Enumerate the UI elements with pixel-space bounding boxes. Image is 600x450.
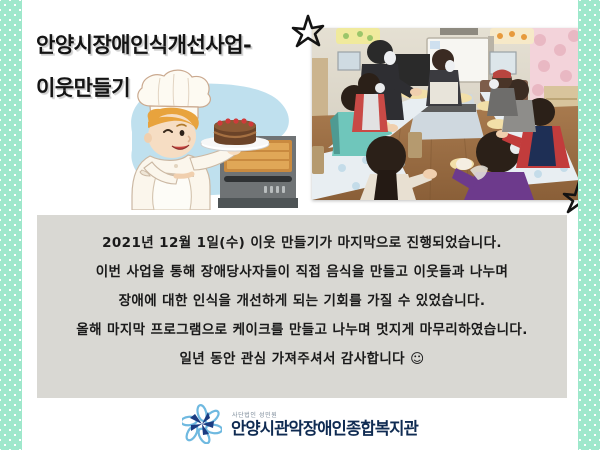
star-doodle-icon bbox=[291, 14, 325, 48]
title-line-1: 안양시장애인식개선사업- bbox=[36, 32, 286, 58]
cooking-class-photo bbox=[312, 28, 578, 200]
message-line-5: 일년 동안 관심 가져주셔서 감사합니다 ☺ bbox=[37, 345, 567, 374]
message-box: 2021년 12월 1일(수) 이웃 만들기가 마지막으로 진행되었습니다. 이… bbox=[37, 215, 567, 398]
title-line-2: 이웃만들기 bbox=[36, 75, 286, 101]
message-line-4: 올해 마지막 프로그램으로 케이크를 만들고 나누며 멋지게 마무리하였습니다. bbox=[37, 316, 567, 345]
poster-card: 안양시장애인식개선사업- 이웃만들기 bbox=[22, 0, 578, 450]
message-line-2: 이번 사업을 통해 장애당사자들이 직접 음식을 만들고 이웃들과 나누며 bbox=[37, 258, 567, 287]
logo-subtitle: 사단법인 성민원 bbox=[232, 410, 418, 419]
flower-pinwheel-logo-icon bbox=[182, 404, 222, 444]
message-line-3: 장애에 대한 인식을 개선하게 되는 기회를 가질 수 있었습니다. bbox=[37, 287, 567, 316]
logo-title: 안양시관악장애인종합복지관 bbox=[231, 420, 418, 438]
star-doodle-icon bbox=[562, 180, 578, 214]
poster-title: 안양시장애인식개선사업- 이웃만들기 bbox=[36, 32, 286, 101]
message-line-1: 2021년 12월 1일(수) 이웃 만들기가 마지막으로 진행되었습니다. bbox=[37, 229, 567, 258]
organization-logo: 사단법인 성민원 안양시관악장애인종합복지관 bbox=[22, 402, 578, 446]
logo-text-group: 사단법인 성민원 안양시관악장애인종합복지관 bbox=[231, 410, 418, 438]
